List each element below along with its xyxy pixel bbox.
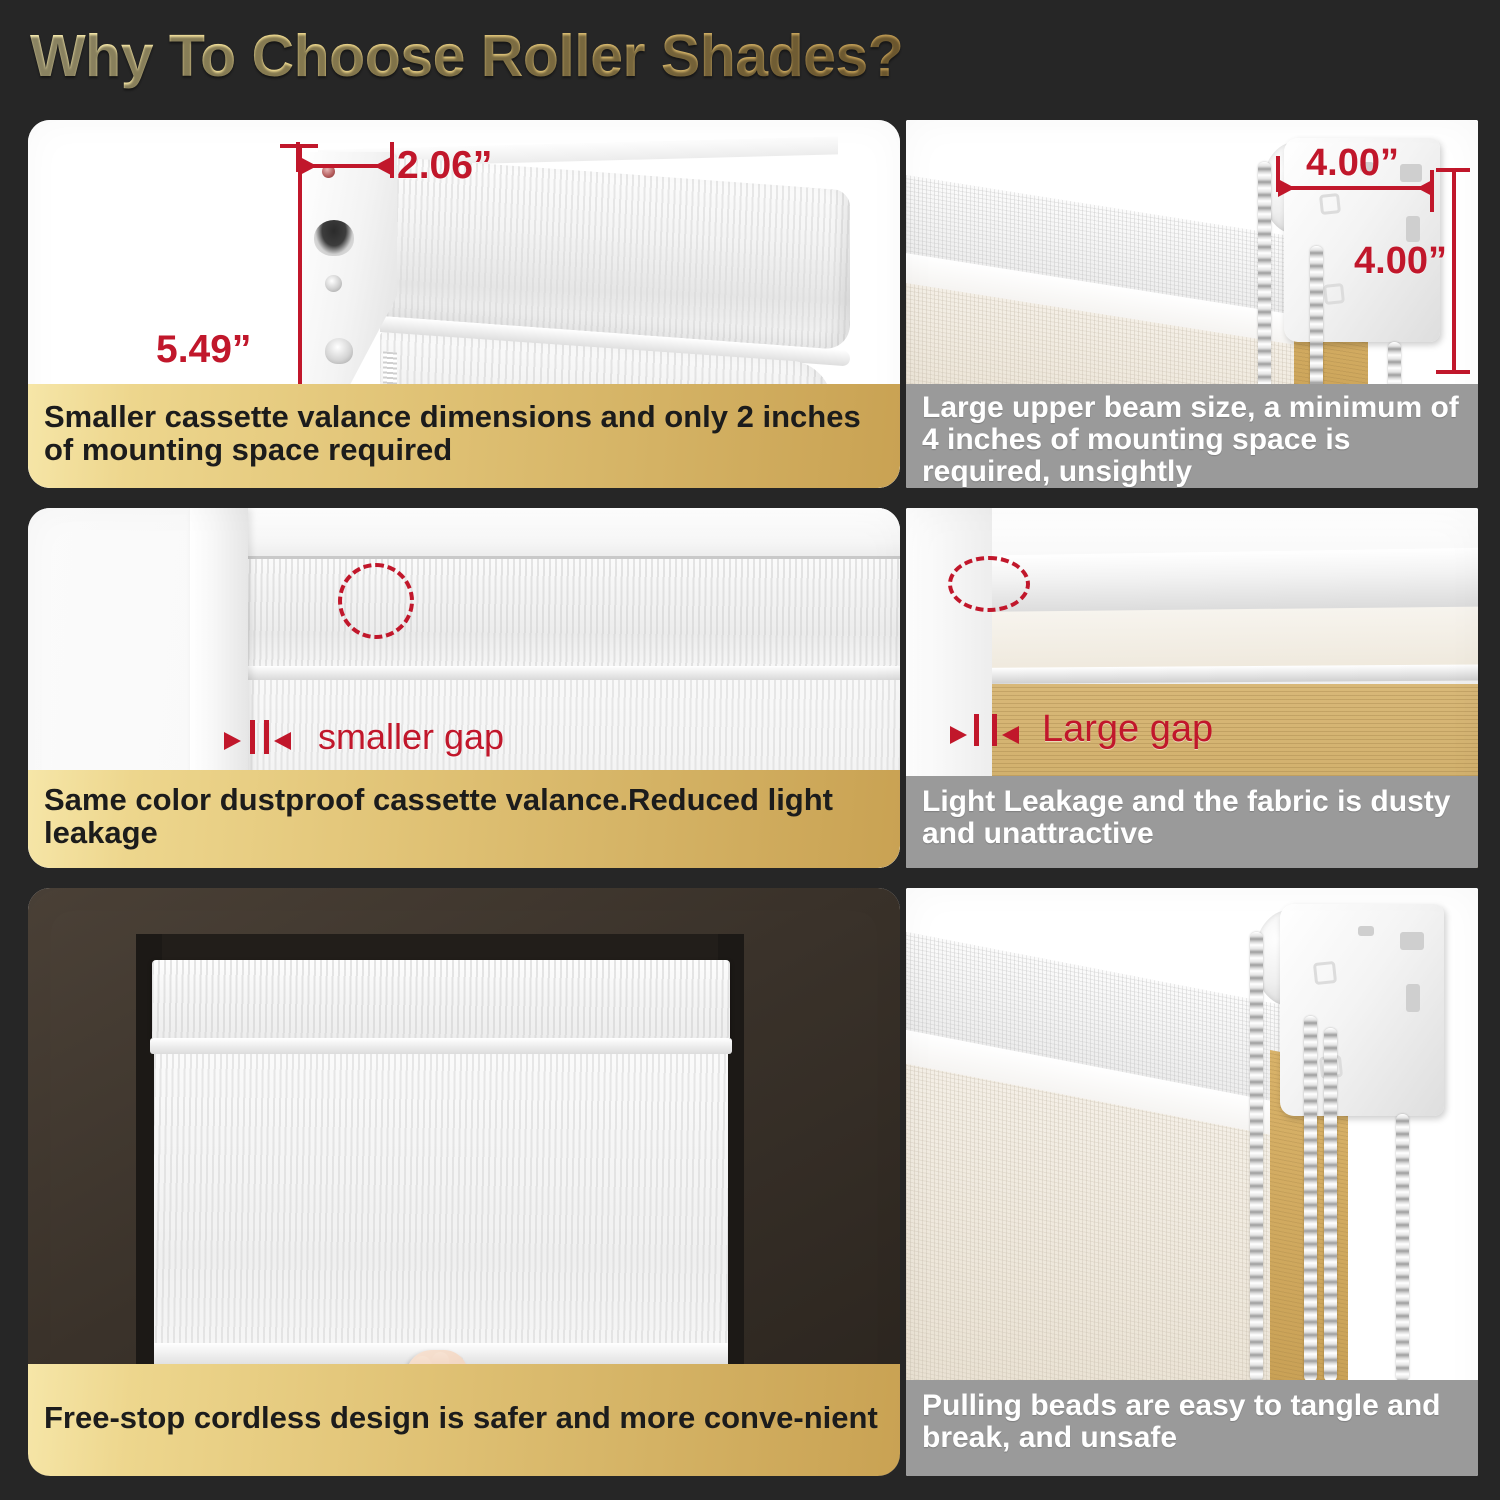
panel-3-caption-text: Same color dustproof cassette valance.Re… <box>44 784 884 850</box>
beam-width-dimension-line <box>1278 186 1434 190</box>
bracket-notch-top <box>1400 932 1424 950</box>
panel-2-caption-bar: Large upper beam size, a minimum of 4 in… <box>906 384 1478 488</box>
bead-chain-mid <box>1304 1016 1317 1382</box>
beam-height-tick-top <box>1436 168 1470 172</box>
bracket-embossed-arrow-upper <box>1313 961 1337 985</box>
beam-width-dimension-label: 4.00” <box>1306 142 1399 185</box>
gap-tick-b <box>264 720 269 754</box>
valance-bottom-lip <box>240 666 900 680</box>
bracket-screw-lower <box>325 338 353 364</box>
beam-width-tick-right <box>1430 170 1434 212</box>
bracket-notch-mid <box>1406 216 1420 242</box>
bracket-notch-mid <box>1406 984 1420 1012</box>
gap-arrow-left <box>224 732 241 750</box>
cassette-valance-window <box>152 960 730 1038</box>
beam-height-dimension-label: 4.00” <box>1354 240 1447 283</box>
gap-arrow-left <box>950 726 967 744</box>
bead-chain-mid-2 <box>1324 1028 1337 1382</box>
width-arrow-left <box>300 157 317 175</box>
panel-grid: 2.06” 5.49” Smaller cassette valance dim… <box>0 0 1500 1500</box>
bead-chain-front <box>1258 162 1271 418</box>
bracket-notch-slot <box>1358 926 1374 936</box>
window-head <box>136 934 744 960</box>
valance-lip-window <box>150 1038 732 1054</box>
panel-2-caption-text: Large upper beam size, a minimum of 4 in… <box>922 392 1462 487</box>
beam-height-dimension-line <box>1452 170 1456 374</box>
panel-4-caption-bar: Light Leakage and the fabric is dusty an… <box>906 776 1478 868</box>
height-tick-top <box>280 144 318 148</box>
smaller-gap-label: smaller gap <box>318 716 504 758</box>
gap-arrow-right <box>1002 726 1019 744</box>
panel-5-caption-text: Free-stop cordless design is safer and m… <box>44 1402 878 1435</box>
beam-width-tick-left <box>1276 156 1280 192</box>
shade-fabric-window <box>154 1054 728 1348</box>
width-arrow-right <box>374 157 391 175</box>
gap-tick-a <box>974 714 979 746</box>
panel-5-caption-bar: Free-stop cordless design is safer and m… <box>28 1364 900 1476</box>
gap-tick-b <box>992 714 997 746</box>
competitor-cream-rail <box>966 607 1478 672</box>
bracket-embossed-arrow-upper <box>1319 193 1341 215</box>
bracket-screw-upper <box>325 275 342 292</box>
beam-height-tick-bottom <box>1436 370 1470 374</box>
panel-con-large-beam: 4.00” 4.00” Large upper beam size, a min… <box>906 120 1478 488</box>
highlight-circle-annotation <box>338 563 414 639</box>
width-dimension-label: 2.06” <box>397 144 492 188</box>
large-gap-label: Large gap <box>1042 708 1213 751</box>
panel-con-light-leakage: Large gap Light Leakage and the fabric i… <box>906 508 1478 868</box>
gap-tick-a <box>250 720 255 754</box>
panel-pro-cordless: Free-stop cordless design is safer and m… <box>28 888 900 1476</box>
panel-pro-smaller-gap: smaller gap Same color dustproof cassett… <box>28 508 900 868</box>
panel-con-pull-beads: Pulling beads are easy to tangle and bre… <box>906 888 1478 1476</box>
panel-1-caption-text: Smaller cassette valance dimensions and … <box>44 401 884 467</box>
gap-arrow-right <box>274 732 291 750</box>
bead-chain-front <box>1250 932 1263 1382</box>
height-dimension-label: 5.49” <box>156 328 251 372</box>
bead-chain-tail <box>1396 1114 1409 1382</box>
panel-pro-cassette-dimensions: 2.06” 5.49” Smaller cassette valance dim… <box>28 120 900 488</box>
highlight-circle-annotation <box>948 556 1030 612</box>
beam-width-arrow-left <box>1278 179 1295 197</box>
panel-3-caption-bar: Same color dustproof cassette valance.Re… <box>28 770 900 868</box>
bracket-embossed-arrow-lower <box>1323 283 1345 305</box>
panel-6-caption-bar: Pulling beads are easy to tangle and bre… <box>906 1380 1478 1476</box>
panel-6-caption-text: Pulling beads are easy to tangle and bre… <box>922 1390 1462 1454</box>
panel-4-caption-text: Light Leakage and the fabric is dusty an… <box>922 786 1462 850</box>
infographic-page: Why To Choose Roller Shades? <box>0 0 1500 1500</box>
panel-1-caption-bar: Smaller cassette valance dimensions and … <box>28 384 900 488</box>
